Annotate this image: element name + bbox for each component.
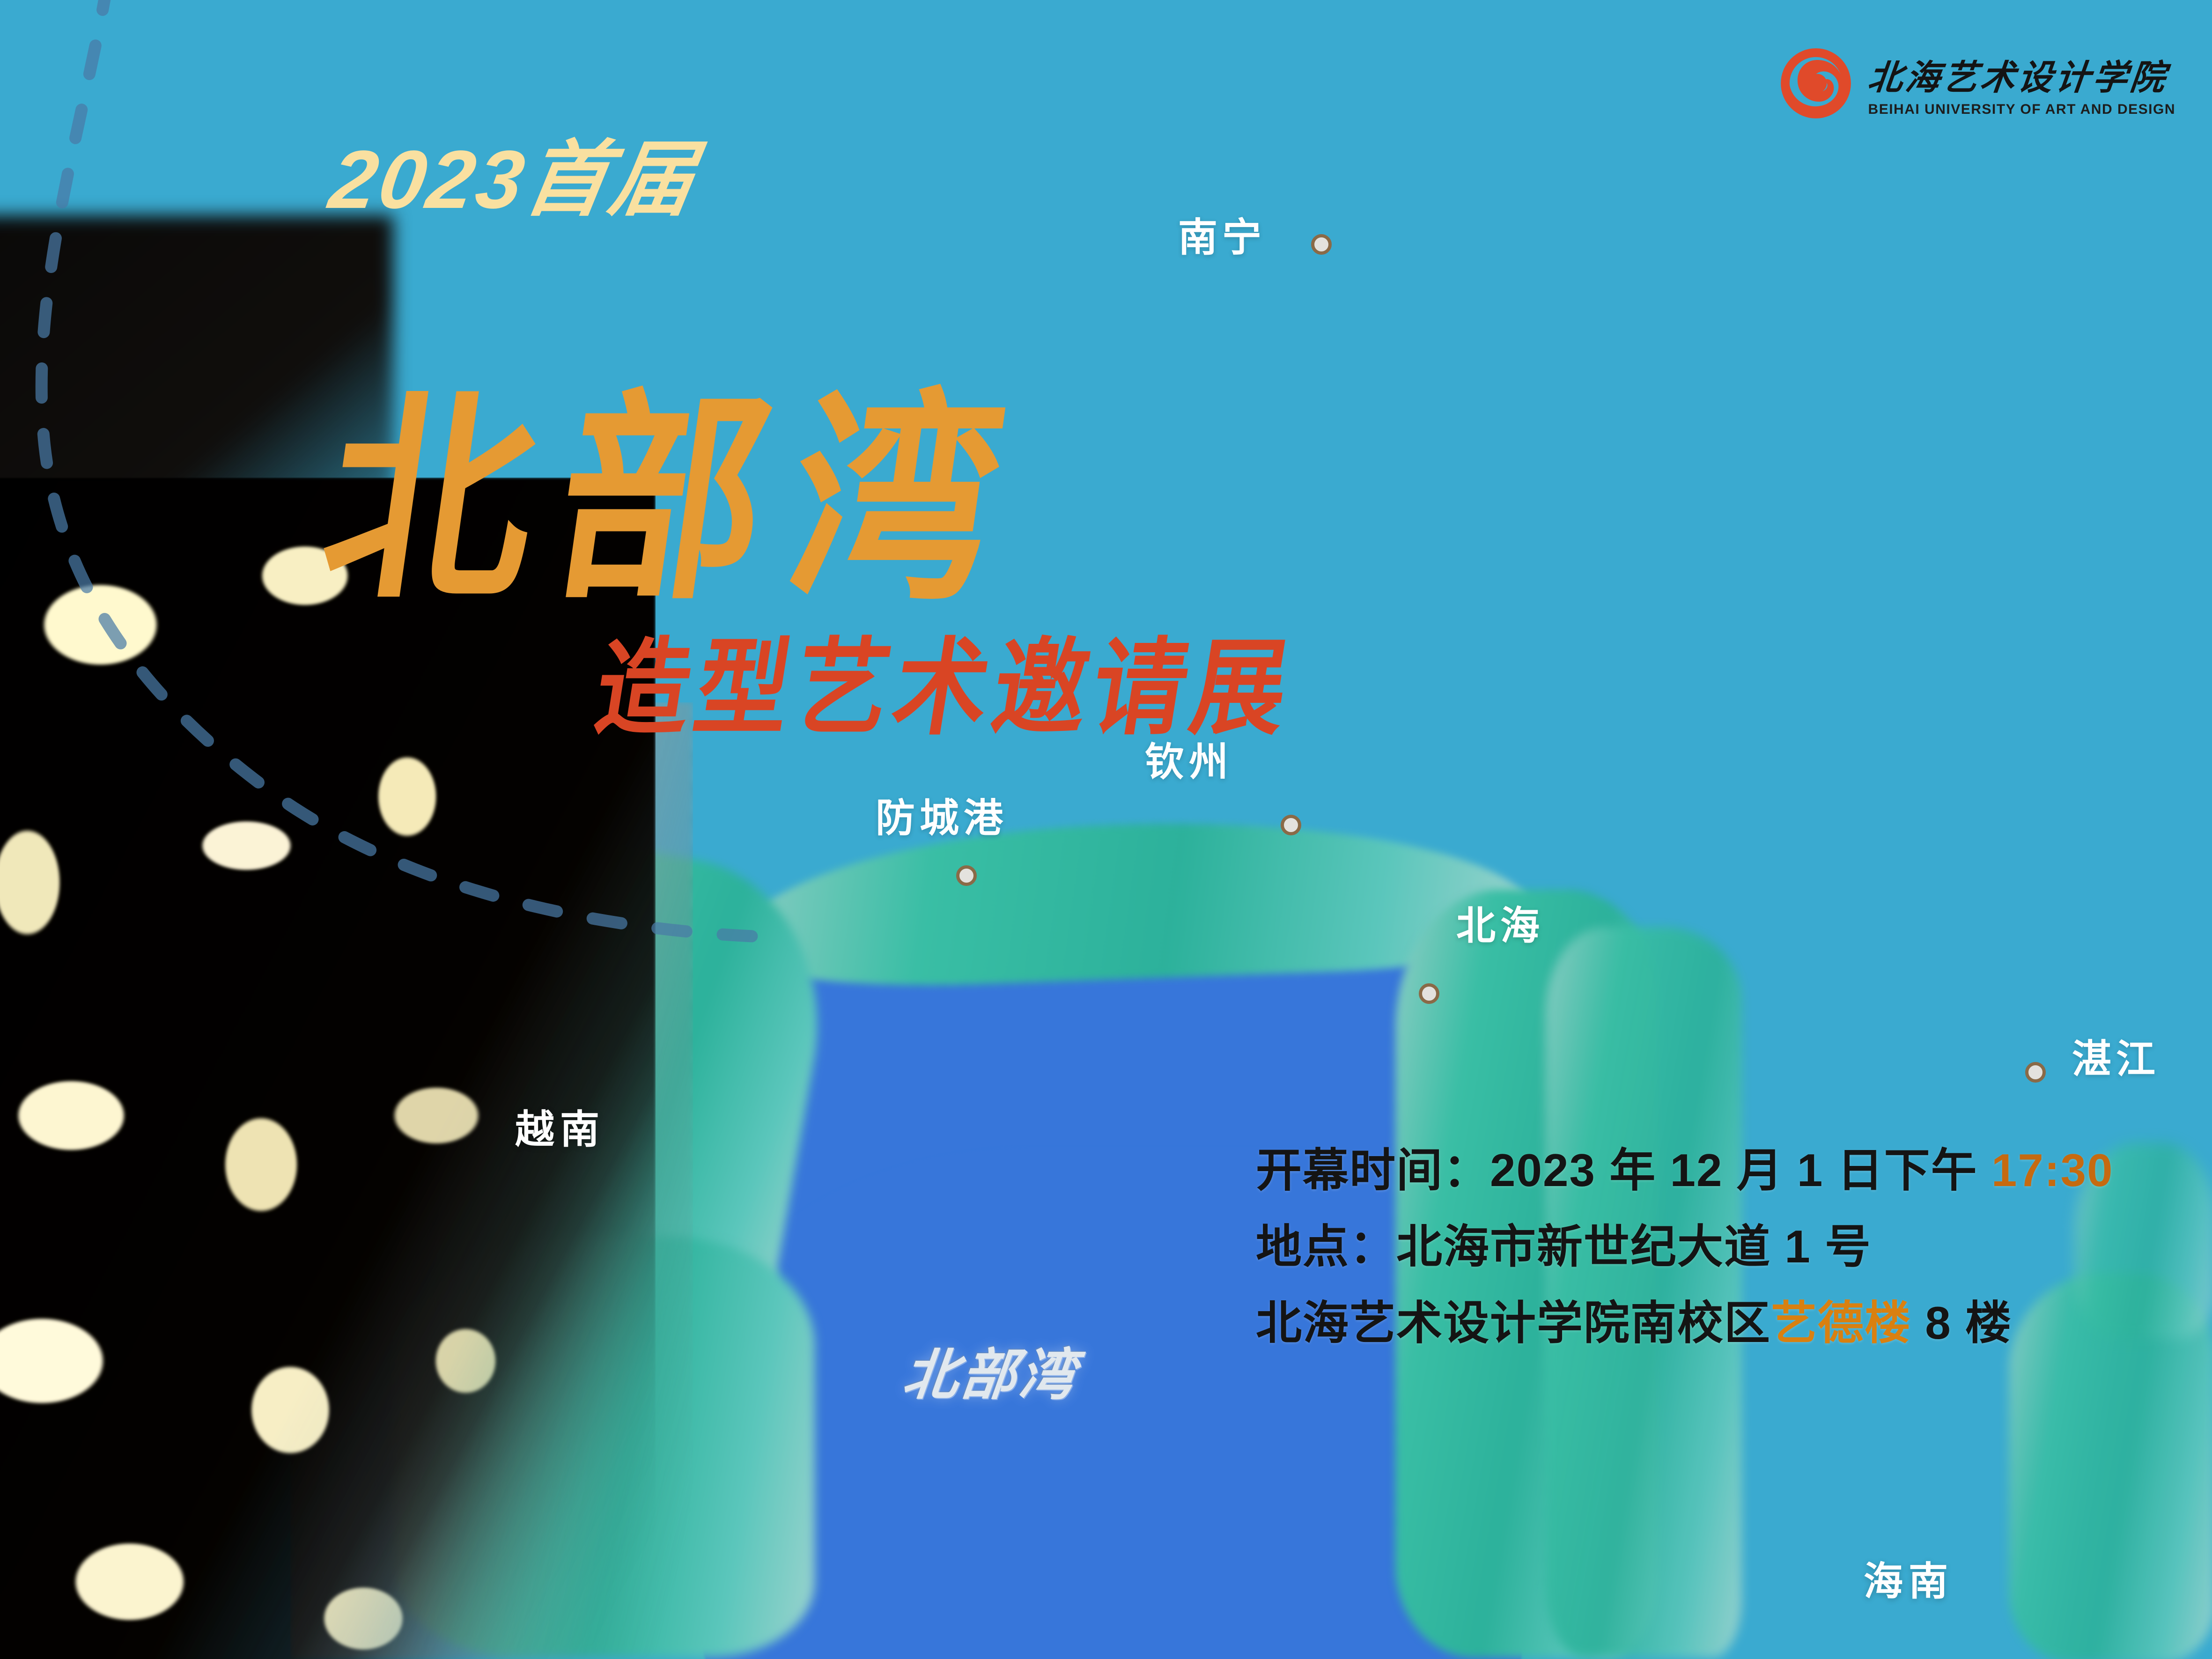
venue-prefix: 北海艺术设计学院南校区 xyxy=(1256,1297,1771,1349)
city-label-1: 钦州 xyxy=(1145,730,1233,787)
logo-name-cn: 北海艺术设计学院 xyxy=(1865,50,2170,100)
opening-time-value: 17:30 xyxy=(1991,1144,2114,1196)
poster-subtitle: 造型艺术邀请展 xyxy=(589,636,1300,741)
event-info-block: 开幕时间：2023 年 12 月 1 日下午 17:30 地点：北海市新世纪大道… xyxy=(1256,1138,2146,1367)
poster-year-line: 2023首届 xyxy=(323,112,707,232)
university-logo: 北海艺术设计学院 BEIHAI UNIVERSITY OF ART AND DE… xyxy=(1779,47,2175,120)
artwork-photo-collage xyxy=(0,478,656,1659)
poster-main-title: 北部湾 xyxy=(312,390,1040,612)
city-label-0: 南宁 xyxy=(1178,206,1266,263)
city-marker-dot-1 xyxy=(1281,815,1301,835)
logo-name-en: BEIHAI UNIVERSITY OF ART AND DESIGN xyxy=(1868,102,2175,118)
city-marker-dot-3 xyxy=(1419,983,1439,1004)
city-label-4: 湛江 xyxy=(2072,1028,2160,1084)
logo-text-block: 北海艺术设计学院 BEIHAI UNIVERSITY OF ART AND DE… xyxy=(1868,50,2175,118)
info-line-opening-time: 开幕时间：2023 年 12 月 1 日下午 17:30 xyxy=(1256,1138,2146,1203)
city-label-2: 防城港 xyxy=(876,787,1008,843)
poster-canvas: 2023首届 北部湾 造型艺术邀请展 北海艺术设计学院 BEIHAI UNIVE… xyxy=(0,0,2212,1659)
info-line-venue-building: 北海艺术设计学院南校区艺德楼 8 楼 xyxy=(1256,1290,2146,1356)
venue-suffix: 8 楼 xyxy=(1911,1297,2012,1349)
region-label-1: 海南 xyxy=(1864,1550,1954,1607)
city-marker-dot-2 xyxy=(956,865,977,886)
info-line-venue-address: 地点：北海市新世纪大道 1 号 xyxy=(1256,1214,2146,1279)
venue-building-highlight: 艺德楼 xyxy=(1771,1297,1911,1349)
city-marker-dot-0 xyxy=(1311,234,1332,255)
gulf-name-label: 北部湾 xyxy=(900,1330,1082,1410)
city-marker-dot-4 xyxy=(2025,1062,2046,1083)
opening-time-prefix: 开幕时间：2023 年 12 月 1 日下午 xyxy=(1256,1144,1991,1196)
swirl-logo-icon xyxy=(1779,47,1852,120)
region-label-0: 越南 xyxy=(515,1098,605,1155)
city-label-3: 北海 xyxy=(1456,894,1544,951)
map-layer xyxy=(0,0,2212,1659)
